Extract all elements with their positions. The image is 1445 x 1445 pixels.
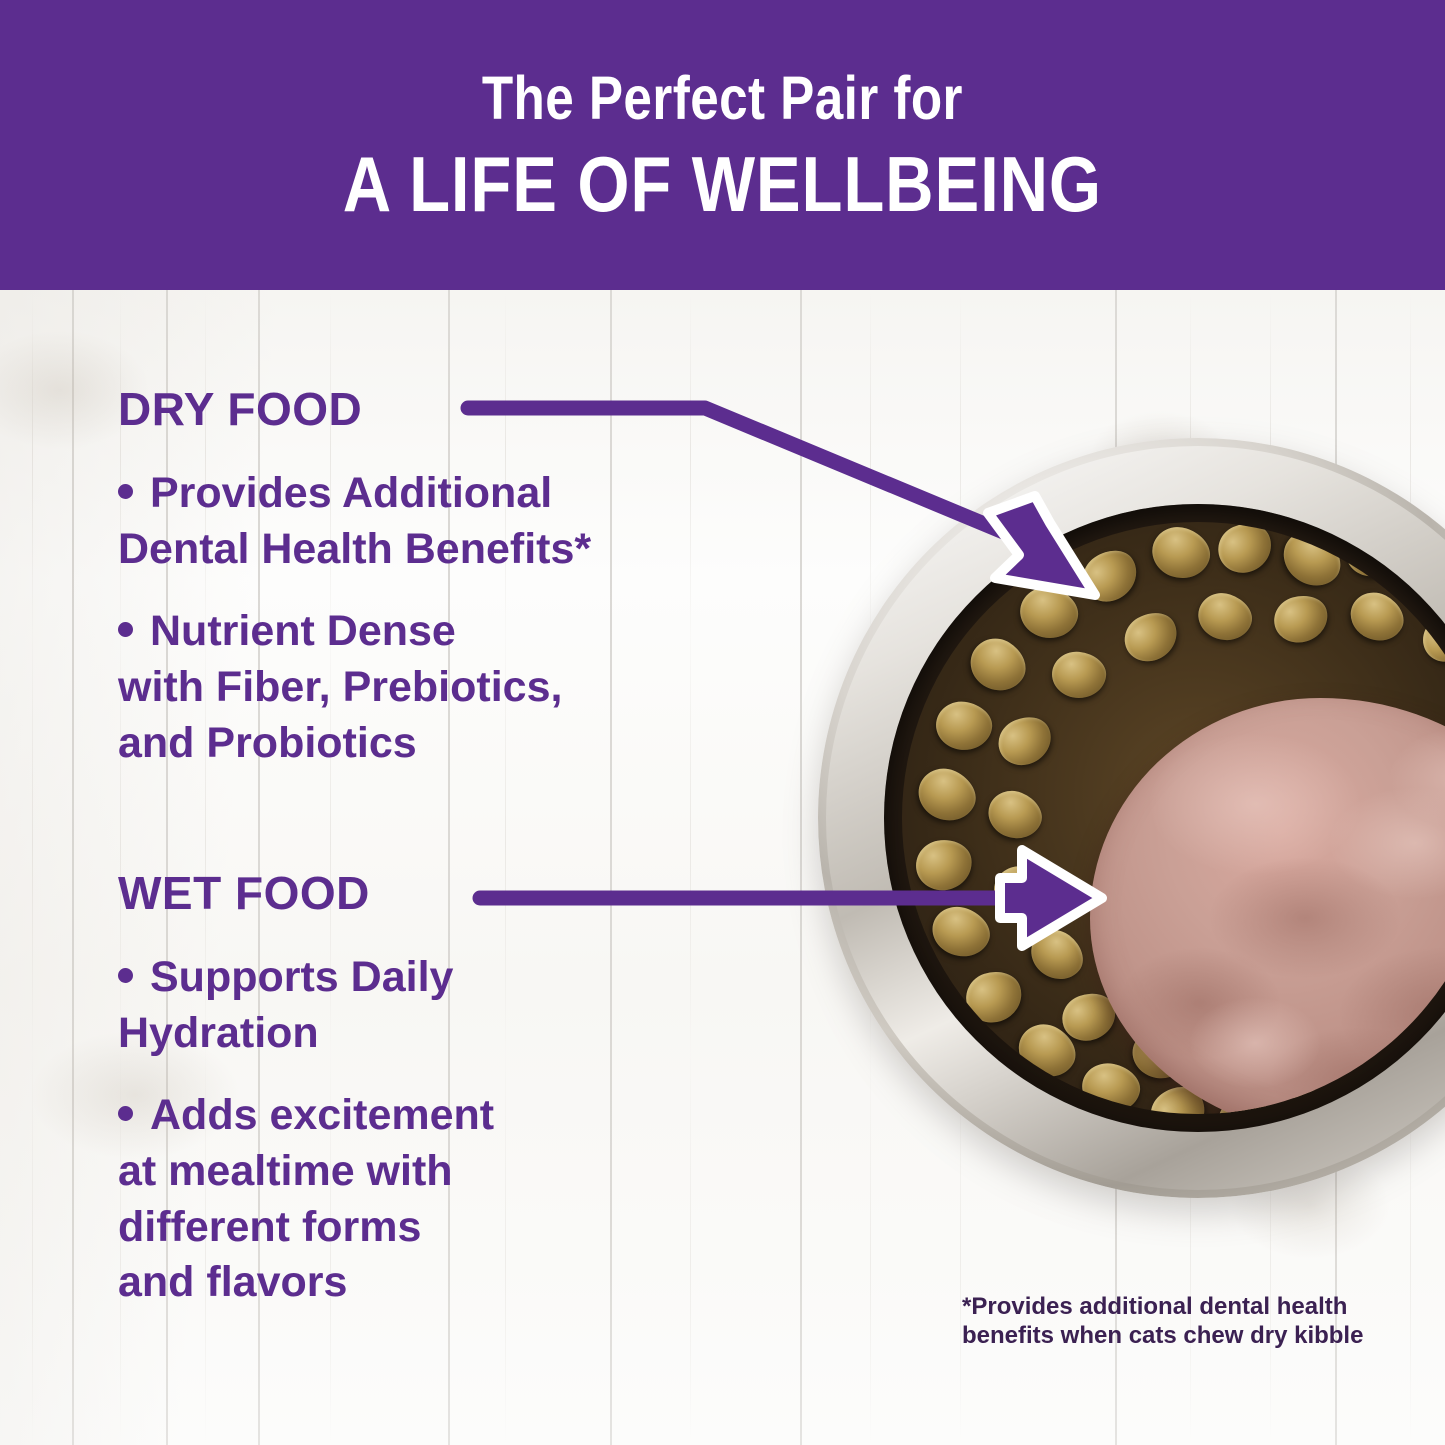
wood-grain (32, 290, 33, 1445)
kibble-piece (926, 900, 997, 965)
kibble-piece (1211, 522, 1280, 581)
kibble-piece (912, 836, 976, 895)
header-subtitle: The Perfect Pair for (482, 68, 963, 129)
footnote-disclaimer: *Provides additional dental health benef… (962, 1292, 1362, 1351)
header-banner: The Perfect Pair for A LIFE OF WELLBEING (0, 0, 1445, 290)
footnote-line-2: benefits when cats chew dry kibble (962, 1321, 1362, 1350)
plank-seam (800, 290, 802, 1445)
bullet-text: Supports Daily (150, 953, 453, 1001)
wet-pate-food (1090, 698, 1445, 1114)
bullet-dot-icon (118, 968, 133, 983)
kibble-piece (1073, 540, 1146, 611)
wood-grain (690, 290, 691, 1445)
dry-food-heading: DRY FOOD (118, 386, 362, 432)
bullet-line: and flavors (118, 1255, 494, 1311)
bullet-item: Nutrient Dense with Fiber, Prebiotics, a… (118, 604, 591, 772)
kibble-piece (1269, 589, 1334, 648)
plank-seam (72, 290, 74, 1445)
kibble-piece (933, 698, 995, 753)
bullet-item: Supports Daily Hydration (118, 950, 494, 1062)
kibble-piece (1050, 649, 1109, 700)
bullet-line: Hydration (118, 1006, 494, 1062)
wet-food-bullets: Supports Daily Hydration Adds excitement… (118, 950, 494, 1311)
kibble-piece (1022, 920, 1093, 989)
bullet-line: at mealtime with (118, 1144, 494, 1200)
pet-food-bowl-image (818, 438, 1445, 1198)
infographic-page: The Perfect Pair for A LIFE OF WELLBEING… (0, 0, 1445, 1445)
plank-seam (610, 290, 612, 1445)
kibble-piece (1192, 587, 1258, 647)
bullet-line: and Probiotics (118, 716, 591, 772)
bullet-text: Nutrient Dense (150, 607, 456, 655)
bullet-dot-icon (118, 622, 133, 637)
bullet-line: different forms (118, 1200, 494, 1256)
bullet-line: with Fiber, Prebiotics, (118, 660, 591, 716)
kibble-piece (991, 862, 1051, 915)
kibble-piece (1116, 604, 1186, 671)
pate-highlight (1190, 998, 1320, 1088)
kibble-piece (981, 784, 1048, 847)
kibble-piece (1146, 522, 1217, 586)
bullet-line: Adds excitement (118, 1088, 494, 1144)
bullet-line: Supports Daily (118, 950, 494, 1006)
dry-food-bullets: Provides Additional Dental Health Benefi… (118, 466, 591, 771)
kibble-piece (910, 760, 984, 830)
pate-highlight (1150, 734, 1360, 874)
bullet-line: Provides Additional (118, 466, 591, 522)
wood-grain (505, 290, 506, 1445)
bullet-item: Adds excitement at mealtime with differe… (118, 1088, 494, 1312)
footnote-line-1: *Provides additional dental health (962, 1292, 1362, 1321)
bullet-item: Provides Additional Dental Health Benefi… (118, 466, 591, 578)
bullet-text: Adds excitement (150, 1091, 494, 1139)
bullet-line: Nutrient Dense (118, 604, 591, 660)
bullet-dot-icon (118, 1106, 133, 1121)
bullet-text: Provides Additional (150, 469, 552, 517)
kibble-piece (1015, 582, 1083, 645)
kibble-piece (961, 629, 1035, 701)
header-title: A LIFE OF WELLBEING (343, 145, 1102, 223)
bullet-dot-icon (118, 484, 133, 499)
kibble-piece (991, 708, 1060, 773)
bullet-line: Dental Health Benefits* (118, 522, 591, 578)
wet-food-heading: WET FOOD (118, 870, 370, 916)
